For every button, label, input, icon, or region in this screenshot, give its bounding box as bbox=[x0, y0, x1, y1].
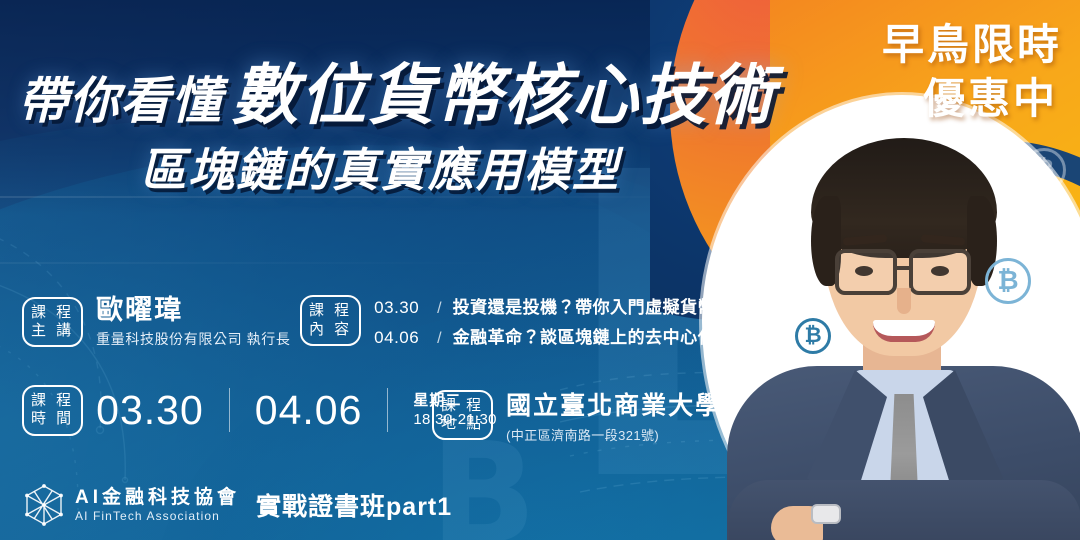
content-tag-line-1: 課 程 bbox=[309, 302, 352, 320]
course-content-row: 課 程 內 容 03.30 / 投資還是投機？帶你入門虛擬貨幣與區塊鏈 04.0… bbox=[300, 293, 785, 348]
bitcoin-badge-gold-icon: ₿ bbox=[1022, 148, 1066, 192]
course-program-label: 實戰證書班part1 bbox=[256, 487, 452, 523]
headline-subtitle: 區塊鏈的真實應用模型 bbox=[140, 134, 620, 200]
speaker-name: 歐曜瑋 bbox=[96, 295, 290, 326]
portrait-glasses-left bbox=[835, 249, 897, 295]
background-streak-line bbox=[0, 262, 520, 264]
circuit-lines-left-icon bbox=[0, 180, 290, 520]
promo-banner: B B bbox=[0, 0, 1080, 540]
association-name-zh: AI金融科技協會 bbox=[75, 488, 240, 508]
content-list: 03.30 / 投資還是投機？帶你入門虛擬貨幣與區塊鏈 04.06 / 金融革命… bbox=[374, 293, 785, 348]
association-name: AI金融科技協會 AI FinTech Association bbox=[75, 488, 240, 523]
place-tag-line-2: 地 點 bbox=[441, 415, 484, 433]
speaker-row: 課 程 主 講 歐曜瑋 重量科技股份有限公司 執行長 bbox=[22, 295, 290, 349]
course-time-row: 課 程 時 間 03.30 04.06 星期二 18:30-21:30 bbox=[22, 385, 497, 436]
date-divider bbox=[229, 388, 230, 432]
venue-address: (中正區濟南路一段321號) bbox=[506, 425, 722, 444]
content-item: 04.06 / 金融革命？談區塊鏈上的去中心化金融應用 bbox=[374, 323, 785, 348]
time-tag: 課 程 時 間 bbox=[22, 385, 83, 436]
time-tag-line-2: 時 間 bbox=[31, 410, 74, 428]
bitcoin-badge-dark-icon: ₿ bbox=[795, 318, 831, 354]
speaker-portrait bbox=[745, 108, 1065, 540]
place-info: 國立臺北商業大學 (中正區濟南路一段321號) bbox=[506, 386, 722, 444]
speaker-role: 重量科技股份有限公司 執行長 bbox=[96, 329, 290, 349]
content-item-separator: / bbox=[437, 330, 441, 348]
headline: 帶你看懂 數位貨幣核心技術 bbox=[18, 42, 776, 138]
content-item: 03.30 / 投資還是投機？帶你入門虛擬貨幣與區塊鏈 bbox=[374, 293, 785, 318]
content-tag: 課 程 內 容 bbox=[300, 295, 361, 346]
footer: AI金融科技協會 AI FinTech Association 實戰證書班par… bbox=[22, 483, 452, 527]
venue-name: 國立臺北商業大學 bbox=[506, 386, 722, 422]
content-tag-line-2: 內 容 bbox=[309, 321, 352, 339]
bitcoin-badge-light-icon: ₿ bbox=[985, 258, 1031, 304]
place-tag-line-1: 課 程 bbox=[441, 397, 484, 415]
speaker-tag-line-2: 主 講 bbox=[31, 322, 74, 340]
content-item-text: 金融革命？談區塊鏈上的去中心化金融應用 bbox=[453, 323, 786, 348]
early-bird-promo-badge: 早鳥限時 優惠中 bbox=[882, 18, 1062, 126]
time-divider bbox=[387, 388, 388, 432]
promo-line-2: 優惠中 bbox=[882, 72, 1062, 126]
content-item-date: 03.30 bbox=[374, 298, 426, 318]
course-date-2: 04.06 bbox=[255, 387, 363, 434]
portrait-nose bbox=[897, 288, 911, 314]
speaker-tag-line-1: 課 程 bbox=[31, 304, 74, 322]
place-tag: 課 程 地 點 bbox=[432, 390, 493, 441]
portrait-glasses-right bbox=[909, 249, 971, 295]
course-place-row: 課 程 地 點 國立臺北商業大學 (中正區濟南路一段321號) bbox=[432, 386, 722, 444]
portrait-mouth bbox=[873, 320, 935, 342]
content-item-text: 投資還是投機？帶你入門虛擬貨幣與區塊鏈 bbox=[453, 293, 786, 318]
association-hexagon-logo-icon bbox=[22, 483, 66, 527]
portrait-wristwatch bbox=[811, 504, 841, 524]
association-name-en: AI FinTech Association bbox=[75, 510, 240, 523]
course-date-1: 03.30 bbox=[96, 387, 204, 434]
time-tag-line-1: 課 程 bbox=[31, 392, 74, 410]
speaker-tag: 課 程 主 講 bbox=[22, 297, 83, 348]
portrait-glasses-bridge bbox=[897, 266, 913, 270]
headline-lead: 帶你看懂 bbox=[18, 61, 222, 133]
headline-main: 數位貨幣核心技術 bbox=[232, 42, 776, 138]
content-item-date: 04.06 bbox=[374, 328, 426, 348]
speaker-info: 歐曜瑋 重量科技股份有限公司 執行長 bbox=[96, 295, 290, 349]
promo-line-1: 早鳥限時 bbox=[882, 18, 1062, 72]
content-item-separator: / bbox=[437, 300, 441, 318]
